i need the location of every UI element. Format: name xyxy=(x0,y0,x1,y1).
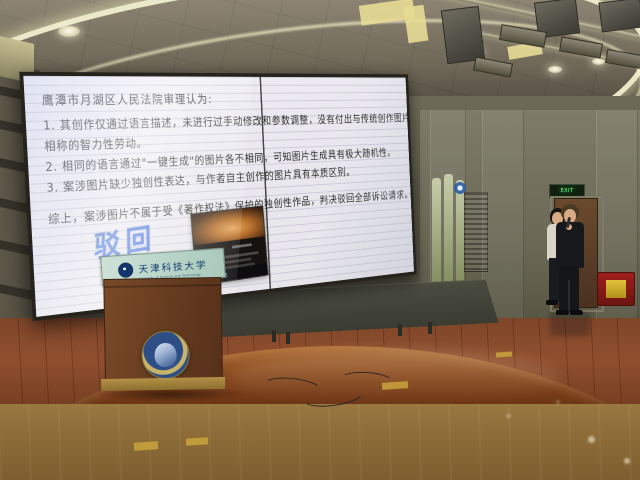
people-floor-reflection xyxy=(550,312,590,336)
lecture-hall-photo: EXIT 鹰潭市月湖区人民法院审理认为: 1. 其创作仅通过语言描述，未进行过手… xyxy=(0,0,640,480)
exit-sign-label: EXIT xyxy=(560,188,573,194)
floor-highlight-3 xyxy=(506,414,511,418)
podium-body xyxy=(103,277,223,385)
fire-cabinet-panel xyxy=(606,280,626,298)
lectern-podium[interactable]: 天津科技大学 Tianjin University of Science and… xyxy=(99,251,227,391)
university-seal-emblem xyxy=(141,331,190,380)
university-logo-icon xyxy=(118,262,134,278)
floor-highlight-1 xyxy=(588,436,595,443)
wall-vent-louver-1 xyxy=(464,192,488,272)
floor-sheen xyxy=(0,404,640,480)
screen-stand-leg-4 xyxy=(428,322,432,334)
downlight-5 xyxy=(548,66,562,73)
screen-stand-leg-1 xyxy=(272,330,276,342)
hanging-acoustic-panel-3 xyxy=(598,0,640,32)
decor-column-1 xyxy=(432,178,441,298)
downlight-1 xyxy=(58,26,80,37)
attendee-shoe xyxy=(546,300,558,305)
screen-stand-leg-2 xyxy=(286,332,290,344)
screen-stand-leg-3 xyxy=(398,324,402,336)
speaker-leg-gap xyxy=(568,280,570,312)
hanging-acoustic-panel-1 xyxy=(441,6,485,64)
fire-equipment-cabinet xyxy=(597,272,635,306)
podium-base-trim xyxy=(101,377,225,391)
floor-highlight-2 xyxy=(624,458,630,464)
decor-emblem xyxy=(454,182,466,194)
floor-highlight-4 xyxy=(556,400,560,404)
floor-tape-3 xyxy=(134,441,158,451)
